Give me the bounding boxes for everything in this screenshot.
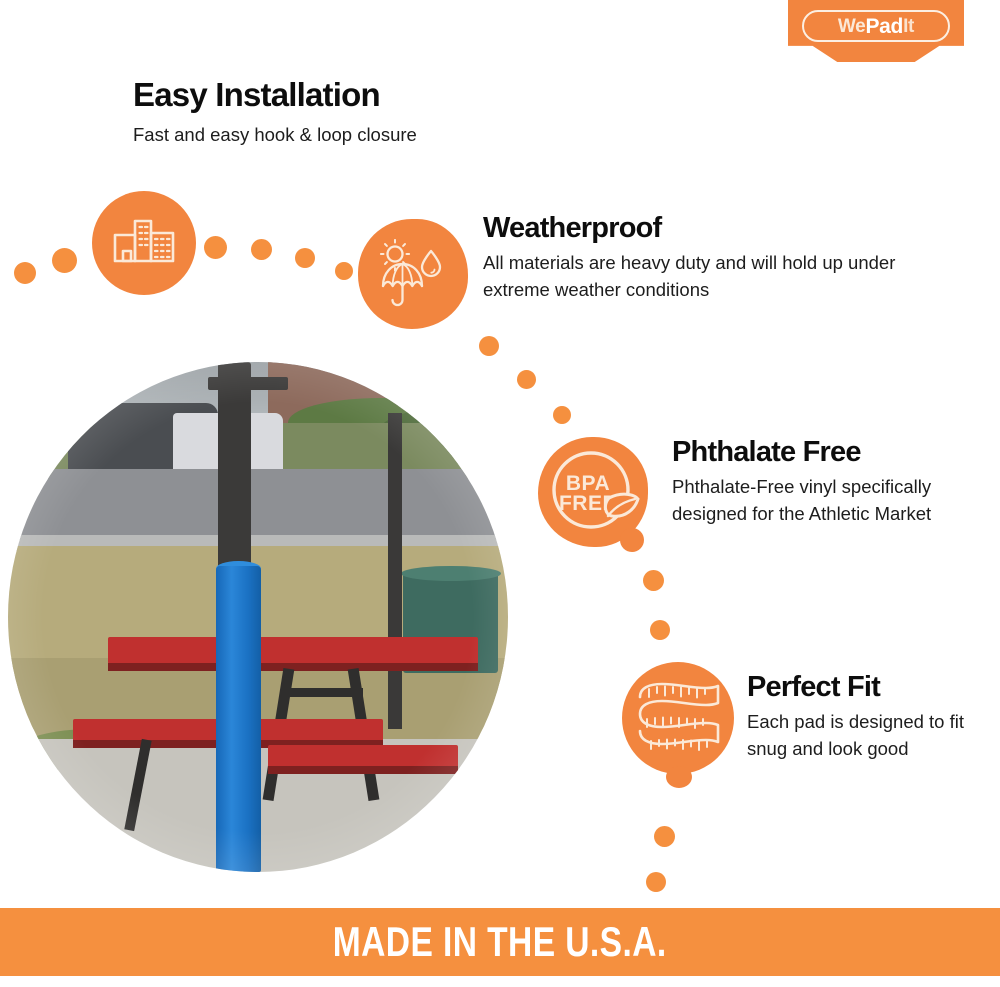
feature-perfect-fit: Perfect Fit Each pad is designed to fit … [747,672,987,762]
sun-umbrella-raindrop-icon [358,219,468,329]
feature-easy-installation: Easy Installation Fast and easy hook & l… [133,78,417,148]
path-dot [295,248,315,268]
feature-title: Perfect Fit [747,672,987,702]
path-dot [650,620,670,640]
fit-badge-nub [666,766,692,788]
path-dot [251,239,272,260]
path-dot [335,262,353,280]
feature-body: Phthalate-Free vinyl specifically design… [672,474,982,527]
feature-weatherproof: Weatherproof All materials are heavy dut… [483,213,903,303]
measuring-tape-icon [622,662,734,774]
brand-logo[interactable]: WePadIt [788,0,964,62]
feature-title: Phthalate Free [672,437,982,467]
feature-title: Easy Installation [133,78,417,113]
path-dot [14,262,36,284]
feature-title: Weatherproof [483,213,903,243]
path-dot [479,336,499,356]
building-icon [92,191,196,295]
path-dot [553,406,571,424]
logo-text-we: We [838,17,866,36]
logo-text-pad: Pad [865,16,903,37]
path-dot [654,826,675,847]
path-dot [646,872,666,892]
path-dot [517,370,536,389]
bpa-badge-nub [620,528,644,552]
logo-text-it: It [903,17,914,36]
path-dot [643,570,664,591]
feature-phthalate-free: Phthalate Free Phthalate-Free vinyl spec… [672,437,982,527]
path-dot [204,236,227,259]
feature-body: Fast and easy hook & loop closure [133,122,417,148]
feature-body: All materials are heavy duty and will ho… [483,250,903,303]
product-photo-circle [8,362,508,872]
infographic-page: WePadIt Easy Installation Fast and easy … [0,0,1000,987]
made-in-usa-text: MADE IN THE U.S.A. [333,918,667,966]
logo-inner-border: WePadIt [802,10,950,42]
feature-body: Each pad is designed to fit snug and loo… [747,709,987,762]
made-in-usa-banner: MADE IN THE U.S.A. [0,908,1000,976]
path-dot [52,248,77,273]
